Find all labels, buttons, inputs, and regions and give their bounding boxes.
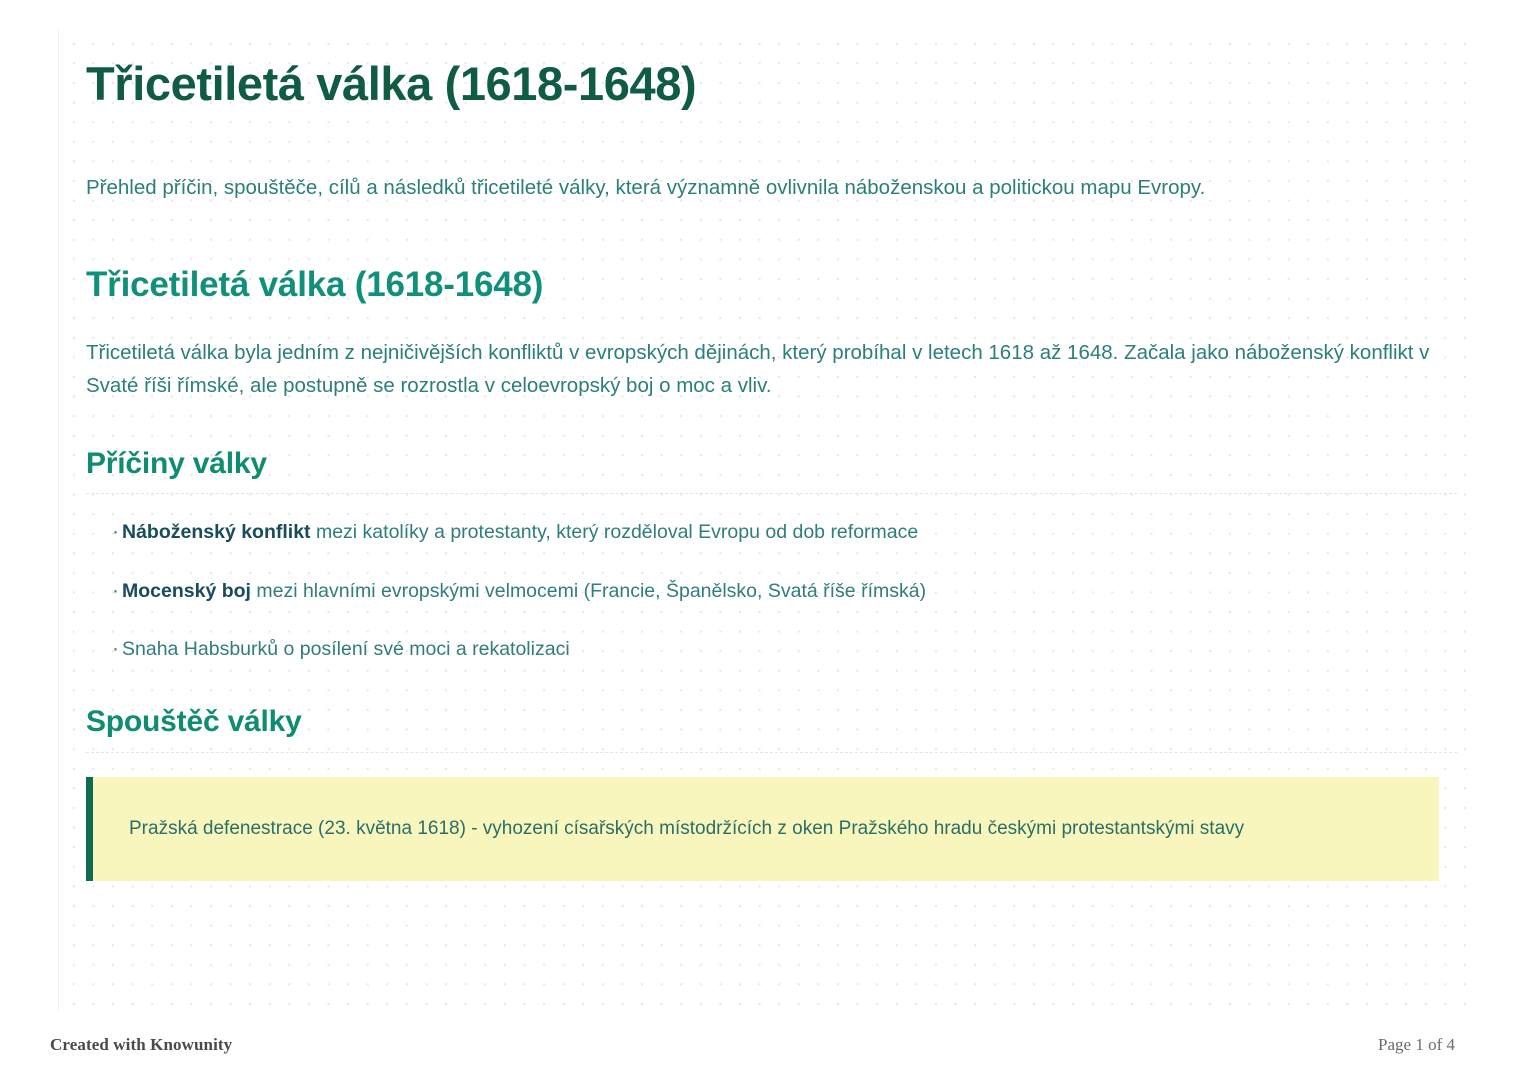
section-heading-causes: Příčiny války — [86, 446, 1457, 494]
list-item: Náboženský konflikt mezi katolíky a prot… — [86, 518, 1457, 547]
list-item-bold: Náboženský konflikt — [122, 521, 311, 543]
trigger-callout-text: Pražská defenestrace (23. května 1618) -… — [129, 815, 1405, 844]
overview-paragraph: Třicetiletá válka byla jedním z nejničiv… — [86, 336, 1457, 402]
list-item-text: mezi katolíky a protestanty, který rozdě… — [311, 521, 919, 543]
footer-credit: Created with Knowunity — [50, 1035, 232, 1055]
document-content: Třicetiletá válka (1618-1648) Přehled př… — [0, 0, 1527, 1010]
section-heading-trigger: Spouštěč války — [86, 704, 1457, 752]
list-item-bold: Mocenský boj — [122, 580, 251, 602]
causes-list: Náboženský konflikt mezi katolíky a prot… — [86, 518, 1457, 664]
page-subtitle: Přehled příčin, spouštěče, cílů a násled… — [86, 173, 1457, 204]
section-heading-overview: Třicetiletá válka (1618-1648) — [86, 265, 1457, 305]
page-footer: Created with Knowunity Page 1 of 4 — [0, 1010, 1527, 1080]
list-item: Mocenský boj mezi hlavními evropskými ve… — [86, 577, 1457, 606]
footer-page-number: Page 1 of 4 — [1378, 1035, 1455, 1055]
page-title: Třicetiletá válka (1618-1648) — [86, 58, 1457, 111]
list-item-text: mezi hlavními evropskými velmocemi (Fran… — [251, 580, 926, 602]
trigger-callout-box: Pražská defenestrace (23. května 1618) -… — [86, 777, 1439, 882]
document-page: Třicetiletá válka (1618-1648) Přehled př… — [0, 0, 1527, 1080]
list-item-text: Snaha Habsburků o posílení své moci a re… — [122, 638, 570, 660]
list-item: Snaha Habsburků o posílení své moci a re… — [86, 635, 1457, 664]
